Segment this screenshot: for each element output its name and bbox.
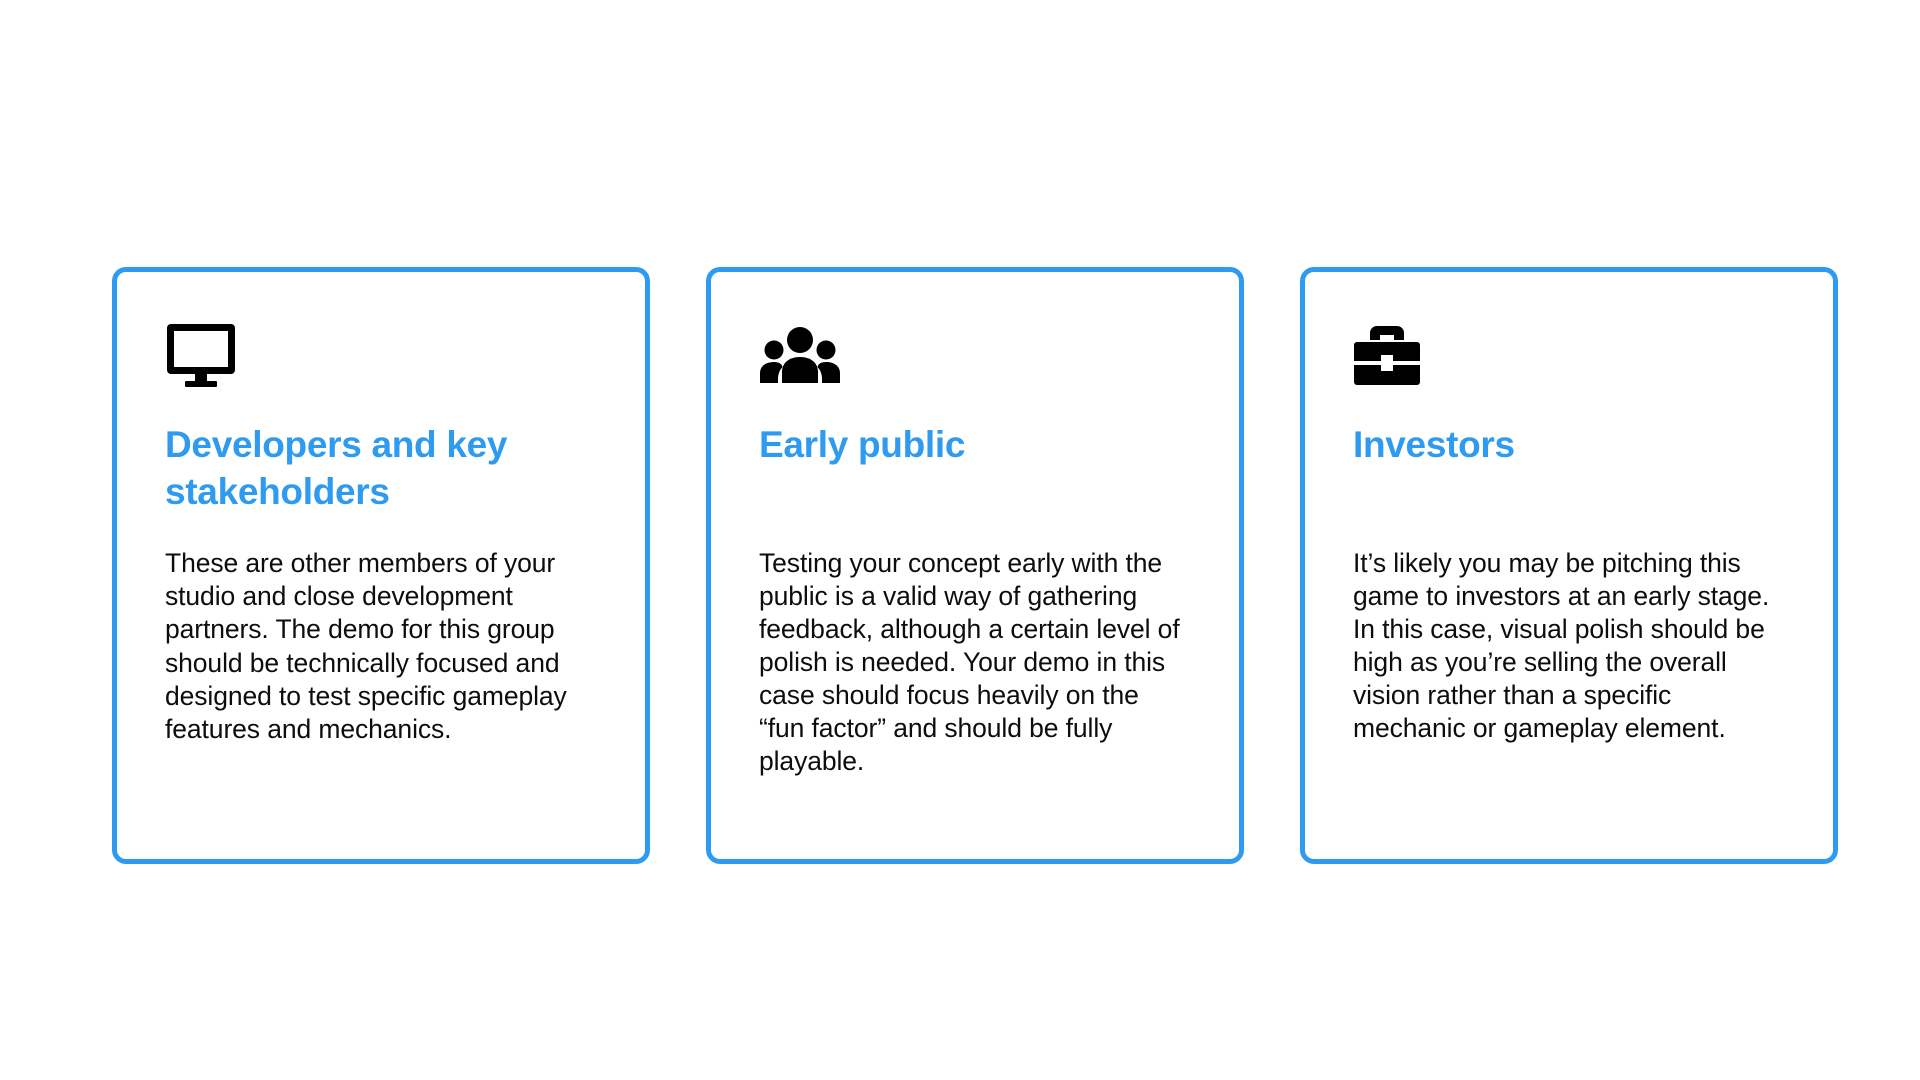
briefcase-icon [1353,318,1785,388]
card-title: Investors [1353,422,1753,469]
card-body-text: Testing your concept early with the publ… [759,547,1189,779]
card-investors[interactable]: Investors It’s likely you may be pitchin… [1300,267,1838,864]
monitor-icon [165,318,597,388]
card-body-text: It’s likely you may be pitching this gam… [1353,547,1783,746]
card-early-public[interactable]: Early public Testing your concept early … [706,267,1244,864]
card-title: Early public [759,422,1159,469]
card-body-text: These are other members of your studio a… [165,547,595,746]
card-title: Developers and key stakeholders [165,422,565,515]
audience-cards-row: Developers and key stakeholders These ar… [112,267,1840,867]
page-canvas: Developers and key stakeholders These ar… [0,0,1920,1080]
card-developers-and-key-stakeholders[interactable]: Developers and key stakeholders These ar… [112,267,650,864]
people-group-icon [759,318,1191,388]
